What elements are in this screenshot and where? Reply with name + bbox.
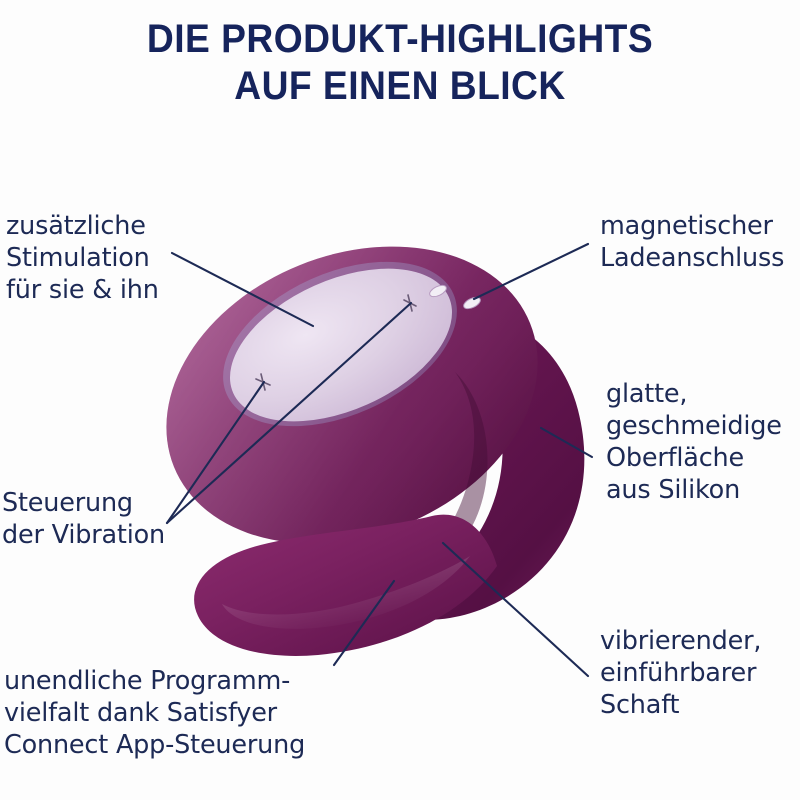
device-shaft <box>194 515 497 656</box>
callout-silicone-surface: glatte, geschmeidige Oberfläche aus Sili… <box>606 378 782 506</box>
callout-vibration-control: Steuerung der Vibration <box>2 487 165 551</box>
callout-vibrating-shaft: vibrierender, einführbarer Schaft <box>600 625 761 721</box>
callout-app-control: unendliche Programm- vielfalt dank Satis… <box>4 665 305 761</box>
leader-line-magnetic-charging <box>474 244 588 299</box>
callout-extra-stimulation: zusätzliche Stimulation für sie & ihn <box>6 210 159 306</box>
callout-magnetic-charging: magnetischer Ladeanschluss <box>600 210 784 274</box>
infographic-canvas: DIE PRODUKT-HIGHLIGHTS AUF EINEN BLICK <box>0 0 800 800</box>
